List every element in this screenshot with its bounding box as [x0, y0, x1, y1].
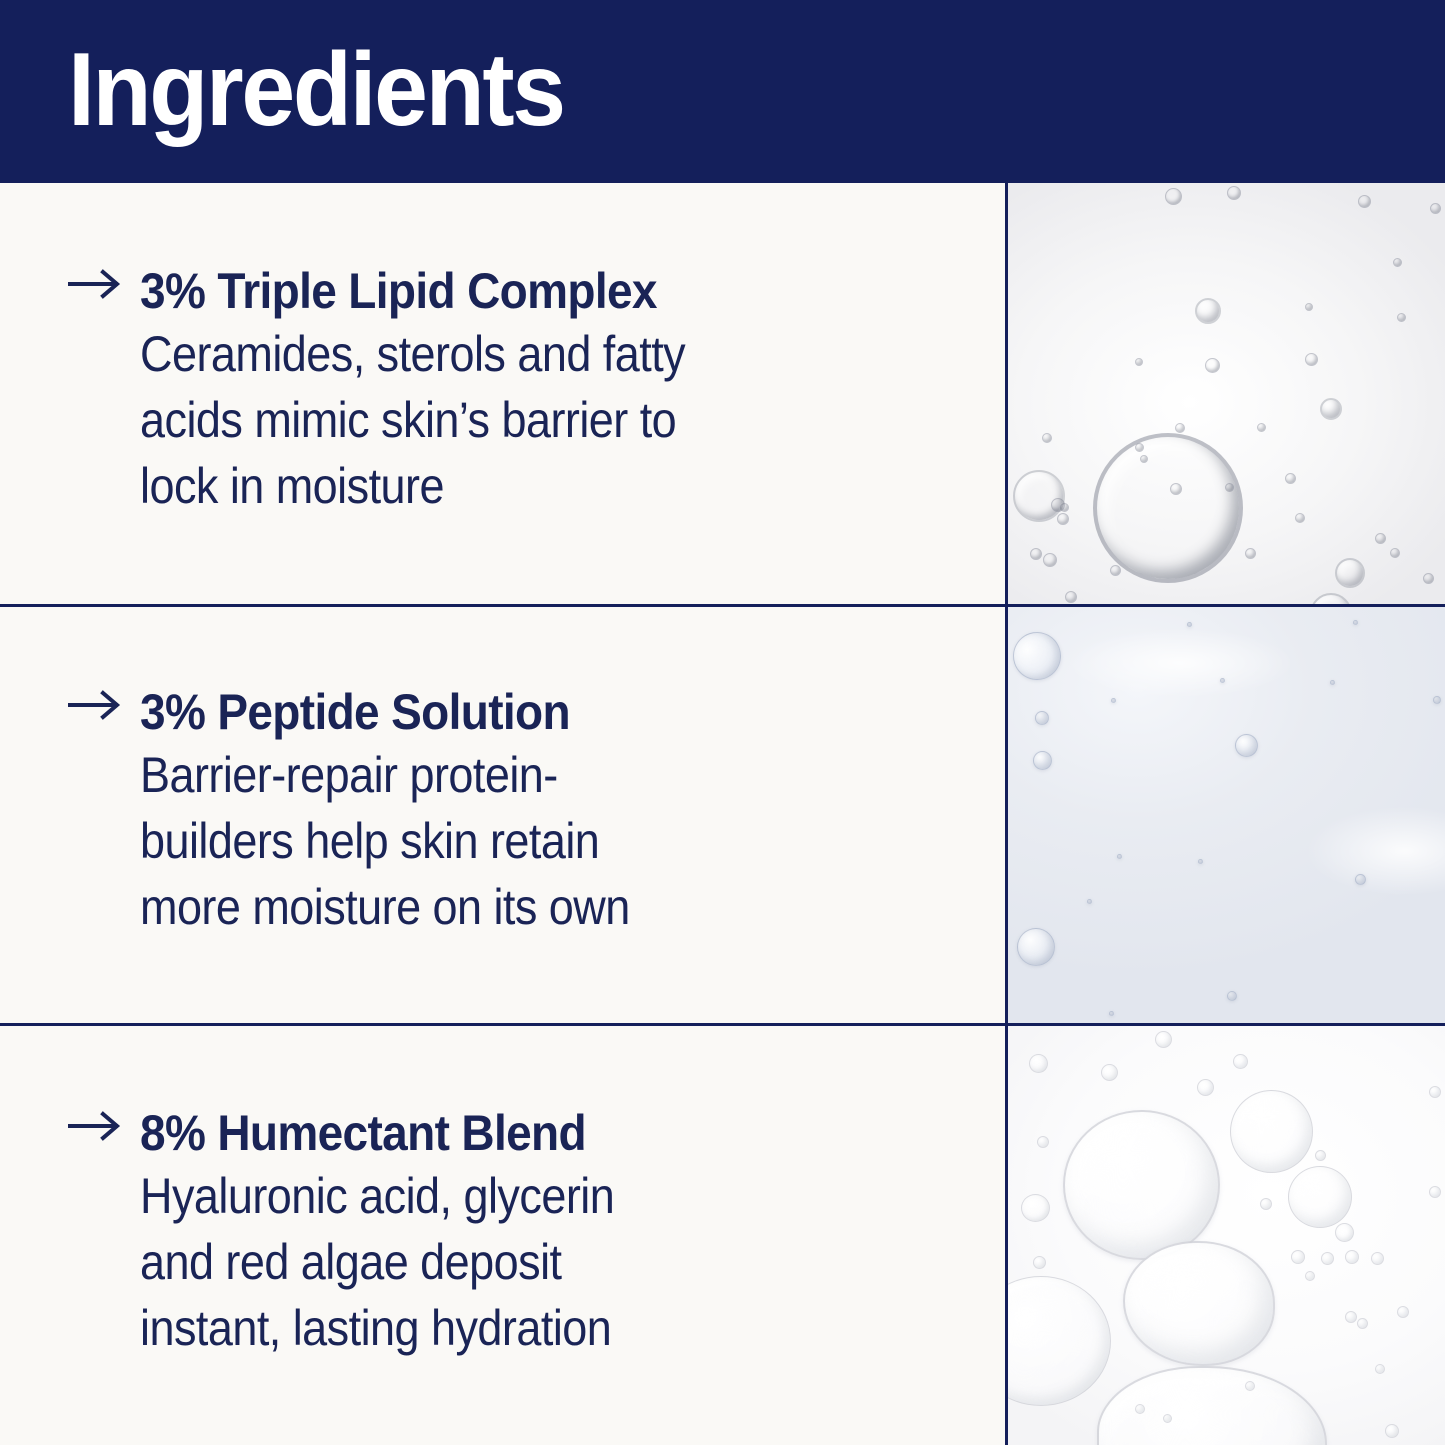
description-line: builders help skin retain [140, 808, 865, 874]
ingredient-description: Hyaluronic acid, glycerin and red algae … [140, 1163, 865, 1361]
ingredients-list: 3% Triple Lipid Complex Ceramides, stero… [0, 183, 1445, 1445]
description-line: Barrier-repair protein- [140, 742, 865, 808]
ingredient-text-cell: 3% Peptide Solution Barrier-repair prote… [0, 606, 1005, 1024]
ingredient-row: 8% Humectant Blend Hyaluronic acid, glyc… [0, 1026, 1445, 1445]
arrow-right-icon [68, 1105, 140, 1141]
description-line: Hyaluronic acid, glycerin [140, 1163, 865, 1229]
page-title: Ingredients [68, 38, 564, 142]
ingredient-title: 3% Triple Lipid Complex [140, 263, 881, 319]
ingredient-description: Ceramides, sterols and fatty acids mimic… [140, 321, 865, 519]
header-band: Ingredients [0, 0, 1445, 183]
arrow-right-icon [68, 684, 140, 720]
ingredients-infographic: Ingredients 3% Triple Lipid Complex [0, 0, 1445, 1445]
description-line: Ceramides, sterols and fatty [140, 321, 865, 387]
ingredient-texture-image-3 [1005, 1026, 1445, 1445]
ingredient-row: 3% Peptide Solution Barrier-repair prote… [0, 606, 1445, 1024]
ingredient-description: Barrier-repair protein- builders help sk… [140, 742, 865, 940]
ingredient-text-cell: 3% Triple Lipid Complex Ceramides, stero… [0, 183, 1005, 605]
description-line: more moisture on its own [140, 874, 865, 940]
description-line: lock in moisture [140, 453, 865, 519]
ingredient-text-cell: 8% Humectant Blend Hyaluronic acid, glyc… [0, 1026, 1005, 1445]
ingredient-title: 3% Peptide Solution [140, 684, 881, 740]
row-divider [0, 604, 1445, 607]
description-line: acids mimic skin’s barrier to [140, 387, 865, 453]
ingredient-row: 3% Triple Lipid Complex Ceramides, stero… [0, 183, 1445, 605]
column-divider [1005, 183, 1008, 1445]
row-divider [0, 1023, 1445, 1026]
ingredient-texture-image-1 [1005, 183, 1445, 605]
description-line: instant, lasting hydration [140, 1295, 865, 1361]
ingredient-texture-image-2 [1005, 606, 1445, 1024]
description-line: and red algae deposit [140, 1229, 865, 1295]
arrow-right-icon [68, 263, 140, 299]
ingredient-title: 8% Humectant Blend [140, 1105, 881, 1161]
